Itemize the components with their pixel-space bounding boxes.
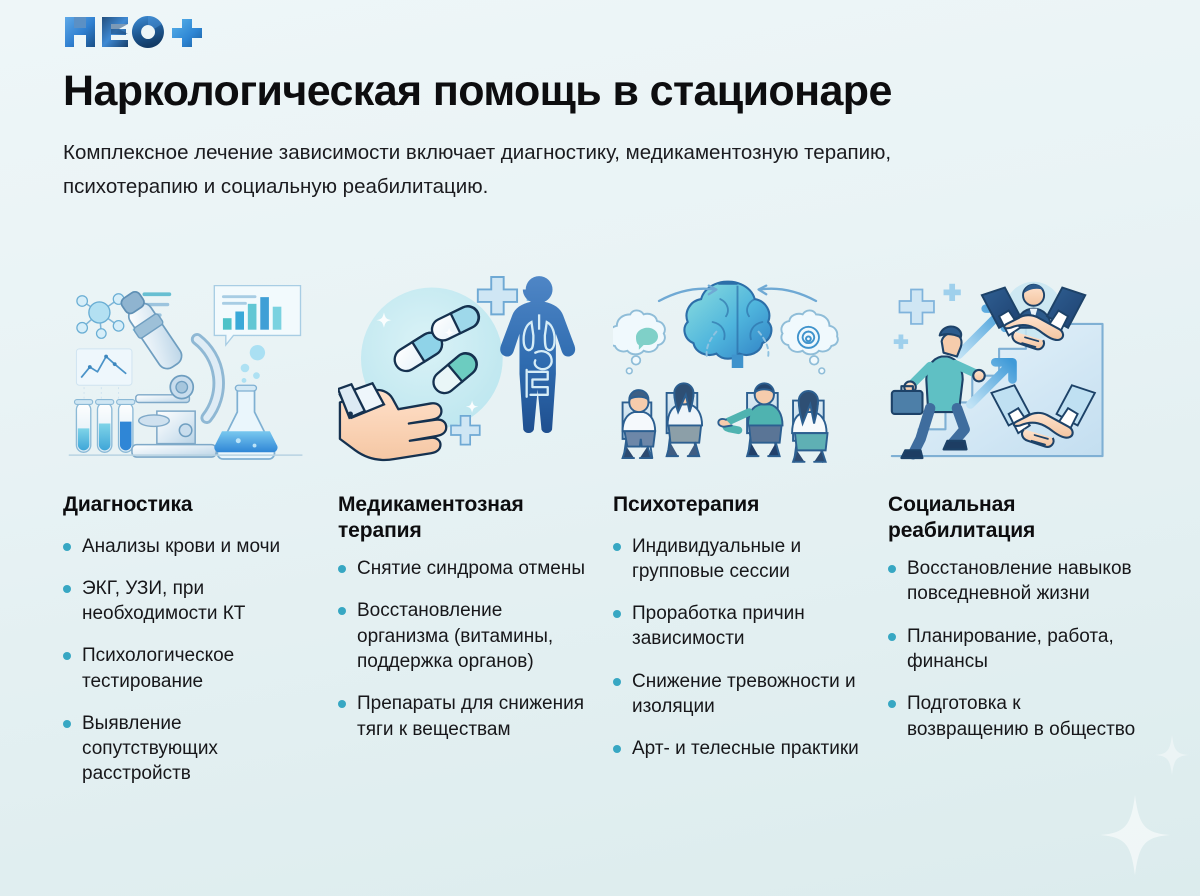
list-item: Анализы крови и мочи bbox=[63, 534, 312, 559]
erlenmeyer-flask bbox=[214, 345, 277, 459]
column-title-medikamentoznaya-terapiya: Медикаментозная терапия bbox=[338, 492, 587, 543]
list-item: Препараты для снижения тяги к веществам bbox=[338, 691, 587, 742]
plus-tiny-1 bbox=[944, 284, 961, 301]
bar-chart bbox=[214, 286, 300, 345]
page-subtitle: Комплексное лечение зависимости включает… bbox=[63, 136, 943, 202]
page-title: Наркологическая помощь в стационаре bbox=[63, 68, 1163, 114]
list-item: ЭКГ, УЗИ, при необходимости КТ bbox=[63, 576, 312, 627]
bullet-list-diagnostika: Анализы крови и мочи ЭКГ, УЗИ, при необх… bbox=[63, 534, 312, 787]
test-tubes bbox=[74, 400, 134, 453]
column-title-psihoterapiya: Психотерапия bbox=[613, 492, 862, 518]
four-seated-people bbox=[623, 383, 828, 462]
bullet-list-socialnaya-reabilitaciya: Восстановление навыков повседневной жизн… bbox=[888, 556, 1137, 742]
line-chart bbox=[76, 349, 132, 399]
content-columns: Диагностика Анализы крови и мочи ЭКГ, УЗ… bbox=[0, 262, 1200, 804]
list-item: Арт- и телесные практики bbox=[613, 736, 862, 761]
thought-bubble-right bbox=[781, 310, 837, 373]
briefcase bbox=[892, 391, 923, 414]
column-title-diagnostika: Диагностика bbox=[63, 492, 312, 518]
list-item: Психологическое тестирование bbox=[63, 643, 312, 694]
neo-plus-logo bbox=[63, 12, 1163, 52]
list-item: Проработка причин зависимости bbox=[613, 601, 862, 652]
lab-microscope-illustration bbox=[63, 262, 312, 474]
list-item: Снижение тревожности и изоляции bbox=[613, 669, 862, 720]
medical-cross bbox=[478, 277, 517, 314]
thought-bubble-left bbox=[613, 310, 665, 373]
bullet-list-psihoterapiya: Индивидуальные и групповые сессии Прораб… bbox=[613, 534, 862, 762]
column-socialnaya-reabilitaciya: Социальная реабилитация Восстановление н… bbox=[875, 262, 1150, 804]
header: Наркологическая помощь в стационаре Комп… bbox=[63, 12, 1163, 203]
column-medikamentoznaya-terapiya: Медикаментозная терапия Снятие синдрома … bbox=[325, 262, 600, 804]
plus-tiny-2 bbox=[894, 334, 908, 348]
career-stairs-handshake-illustration bbox=[888, 262, 1137, 474]
bullet-list-medikamentoznaya-terapiya: Снятие синдрома отмены Восстановление ор… bbox=[338, 556, 587, 742]
arrow-right bbox=[760, 289, 816, 301]
group-therapy-brain-illustration bbox=[613, 262, 862, 474]
list-item: Восстановление организма (витамины, подд… bbox=[338, 598, 587, 674]
column-title-socialnaya-reabilitaciya: Социальная реабилитация bbox=[888, 492, 1137, 543]
list-item: Снятие синдрома отмены bbox=[338, 556, 587, 581]
list-item: Выявление сопутствующих расстройств bbox=[63, 711, 312, 787]
column-diagnostika: Диагностика Анализы крови и мочи ЭКГ, УЗ… bbox=[50, 262, 325, 804]
medical-cross bbox=[899, 289, 933, 323]
sparkle-decoration-bottom-right bbox=[1100, 795, 1170, 875]
list-item: Восстановление навыков повседневной жизн… bbox=[888, 556, 1137, 607]
list-item: Индивидуальные и групповые сессии bbox=[613, 534, 862, 585]
column-psihoterapiya: Психотерапия Индивидуальные и групповые … bbox=[600, 262, 875, 804]
list-item: Подготовка к возвращению в общество bbox=[888, 691, 1137, 742]
pills-hand-body-illustration bbox=[338, 262, 587, 474]
list-item: Планирование, работа, финансы bbox=[888, 624, 1137, 675]
brain bbox=[684, 282, 771, 368]
